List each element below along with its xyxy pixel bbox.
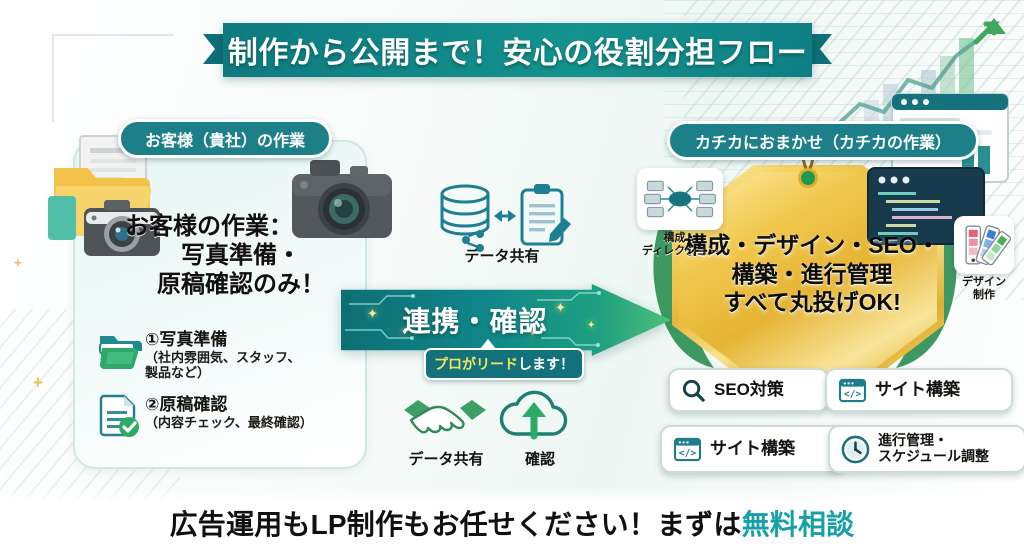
customer-task-item-2-title: ②原稿確認 [145, 395, 313, 415]
title-banner: 制作から公開まで！安心の役割分担フロー [205, 23, 830, 77]
customer-task-item-1-sub1: （社内雰囲気、スタッフ、 [145, 350, 300, 366]
structure-direction-label: 構成・ ディレクション [637, 232, 723, 258]
bottom-cta-text: 広告運用もLP制作もお任せください！まずは無料相談 [170, 503, 855, 543]
corner-frame-left [52, 34, 174, 122]
design-production-label: デザイン 制作 [951, 276, 1017, 302]
cloud-upload-icon [501, 392, 565, 436]
svg-text:</>: </> [844, 389, 862, 400]
bottom-cta-highlight: 無料相談 [742, 509, 855, 540]
clock-icon [841, 435, 870, 464]
customer-section-pill-label: お客様（貴社）の作業 [145, 127, 305, 151]
document-check-icon [98, 394, 142, 438]
structure-direction-icon-group: 構成・ ディレクション [637, 168, 723, 258]
code-window-icon: </> [838, 378, 867, 403]
confirm-label: 確認 [500, 448, 580, 469]
agency-task-heading-line3: すべて丸投げOK! [676, 288, 948, 317]
agency-section-pill-label: カチカにおまかせ（カチカの作業） [695, 129, 951, 153]
database-clipboard-exchange-icon [432, 178, 572, 270]
customer-task-item-2: ②原稿確認 （内容チェック、最終確認） [145, 395, 313, 430]
customer-task-item-1: ①写真準備 （社内雰囲気、スタッフ、 製品など） [145, 330, 300, 381]
data-share-label-bottom: データ共有 [400, 448, 492, 469]
folder-photo-icon [98, 330, 142, 372]
agency-task-heading-line2: 構築・進行管理 [676, 260, 948, 289]
chip-seo[interactable]: SEO対策 [668, 368, 829, 412]
chip-schedule-management[interactable]: 進行管理・スケジュール調整 [828, 425, 1024, 473]
banner-title: 制作から公開まで！安心の役割分担フロー [228, 28, 808, 72]
chip-site-build-1[interactable]: </> サイト構築 [825, 368, 1013, 412]
plus-decoration-2: + [14, 255, 22, 270]
customer-task-heading-line3: 原稿確認のみ！ [125, 270, 357, 299]
customer-task-item-1-title: ①写真準備 [145, 330, 300, 350]
plus-decoration-1: + [33, 373, 43, 393]
color-swatch-icon [957, 219, 1011, 271]
svg-text:</>: </> [679, 448, 697, 459]
handshake-icon [404, 400, 486, 432]
search-icon [681, 378, 706, 403]
customer-task-item-2-sub1: （内容チェック、最終確認） [145, 415, 313, 431]
handshake-cloud-icons [400, 388, 580, 446]
customer-task-item-1-sub2: 製品など） [145, 365, 300, 381]
banner-body: 制作から公開まで！安心の役割分担フロー [223, 23, 812, 77]
pro-lead-bubble-text: プロがリードします！ [434, 354, 574, 374]
customer-section-pill: お客様（貴社）の作業 [118, 119, 332, 158]
dslr-camera-icon [288, 148, 396, 252]
bottom-cta: 広告運用もLP制作もお任せください！まずは無料相談 [0, 500, 1024, 546]
agency-section-pill: カチカにおまかせ（カチカの作業） [667, 121, 979, 160]
chip-site-build-2[interactable]: </> サイト構築 [660, 425, 844, 473]
sitemap-icon [640, 170, 720, 228]
chip-site-build-1-label: サイト構築 [875, 380, 960, 399]
collaboration-arrow: ✦ ✦ ✦ ✦ ✦ 連携・確認 [341, 284, 671, 356]
chip-schedule-management-label: 進行管理・スケジュール調整 [878, 433, 989, 465]
sitemap-icon-box [637, 168, 723, 230]
color-swatch-icon-box [954, 216, 1014, 274]
design-production-icon-group: デザイン 制作 [951, 216, 1017, 302]
infographic-canvas: + + 制作から公開まで！安心の役割分担フロー [0, 0, 1024, 559]
chip-seo-label: SEO対策 [714, 380, 784, 399]
chip-site-build-2-label: サイト構築 [710, 439, 795, 458]
code-window-icon: </> [673, 437, 702, 462]
arrow-label: 連携・確認 [341, 284, 609, 356]
pro-lead-bubble: プロがリードします！ [424, 348, 584, 380]
